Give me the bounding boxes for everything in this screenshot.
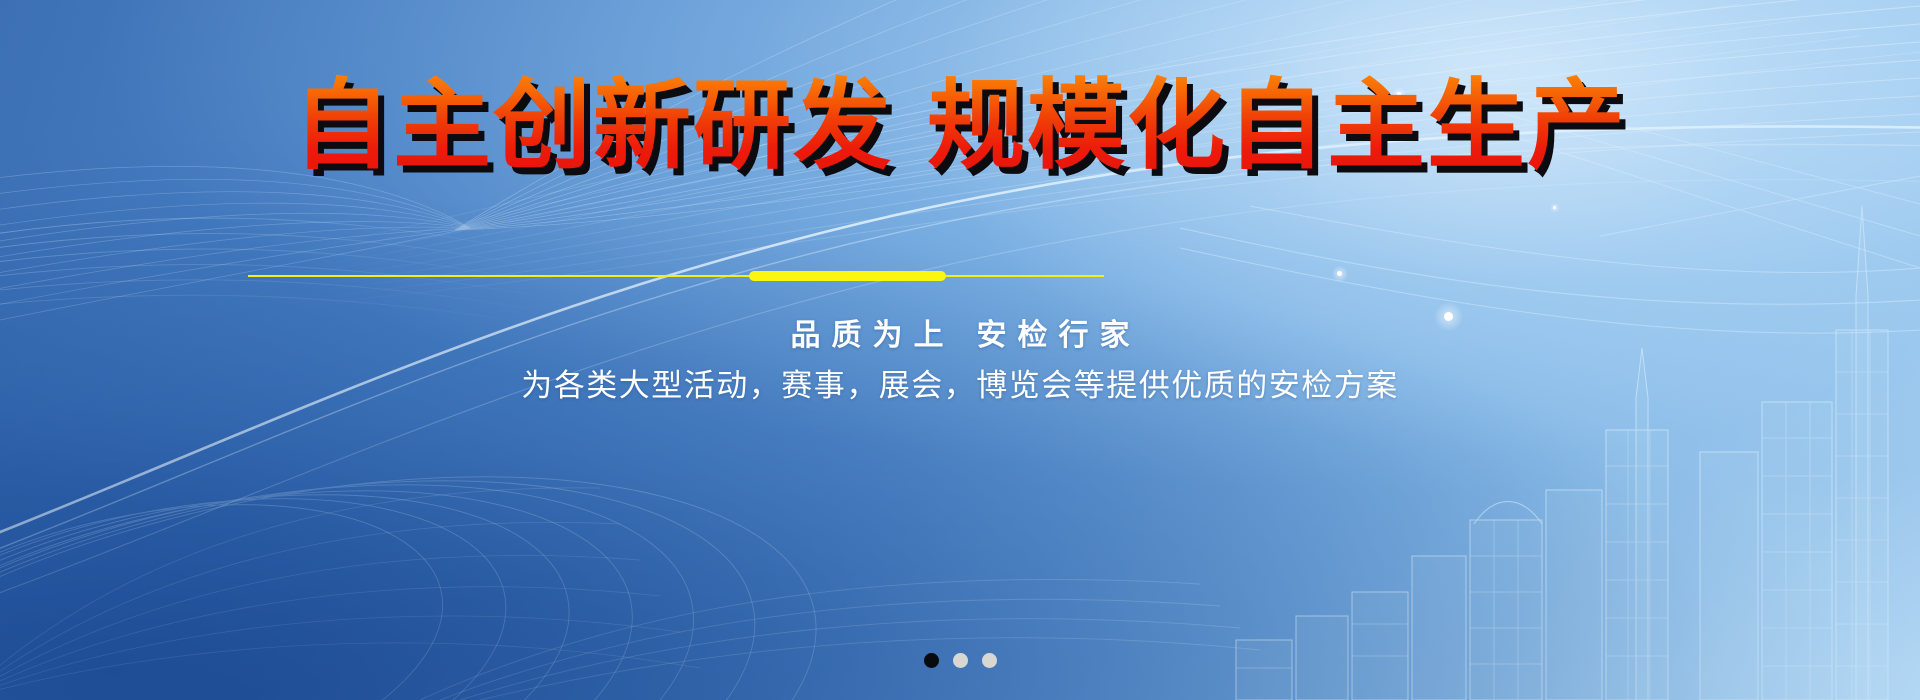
subtitle-char: 行: [1059, 319, 1100, 352]
subtitle-char: 上: [914, 319, 955, 352]
carousel-indicators[interactable]: [0, 653, 1920, 668]
headline-part-1: 自主创新研发: [293, 69, 893, 183]
hero-banner: 自主创新研发规模化自主生产 品质为上安检行家 为各类大型活动，赛事，展会，博览会…: [0, 0, 1920, 700]
subtitle-char: 家: [1100, 319, 1141, 352]
carousel-dot-1[interactable]: [924, 653, 939, 668]
banner-subtitle-primary: 品质为上安检行家: [0, 310, 1920, 354]
subtitle-char: 检: [1018, 319, 1059, 352]
subtitle-char: 品: [791, 319, 832, 352]
subtitle-char: 安: [977, 319, 1018, 352]
carousel-dot-2[interactable]: [953, 653, 968, 668]
carousel-dot-3[interactable]: [982, 653, 997, 668]
headline-divider: [248, 273, 1104, 279]
divider-highlight-segment: [749, 271, 946, 281]
divider-rule: [248, 275, 1104, 277]
banner-headline: 自主创新研发规模化自主生产: [0, 72, 1920, 182]
subtitle-char: 质: [832, 319, 873, 352]
banner-subtitle-secondary: 为各类大型活动，赛事，展会，博览会等提供优质的安检方案: [0, 360, 1920, 405]
subtitle-char: 为: [873, 319, 914, 352]
banner-content: 自主创新研发规模化自主生产 品质为上安检行家 为各类大型活动，赛事，展会，博览会…: [0, 0, 1920, 700]
headline-part-2: 规模化自主生产: [927, 69, 1627, 183]
